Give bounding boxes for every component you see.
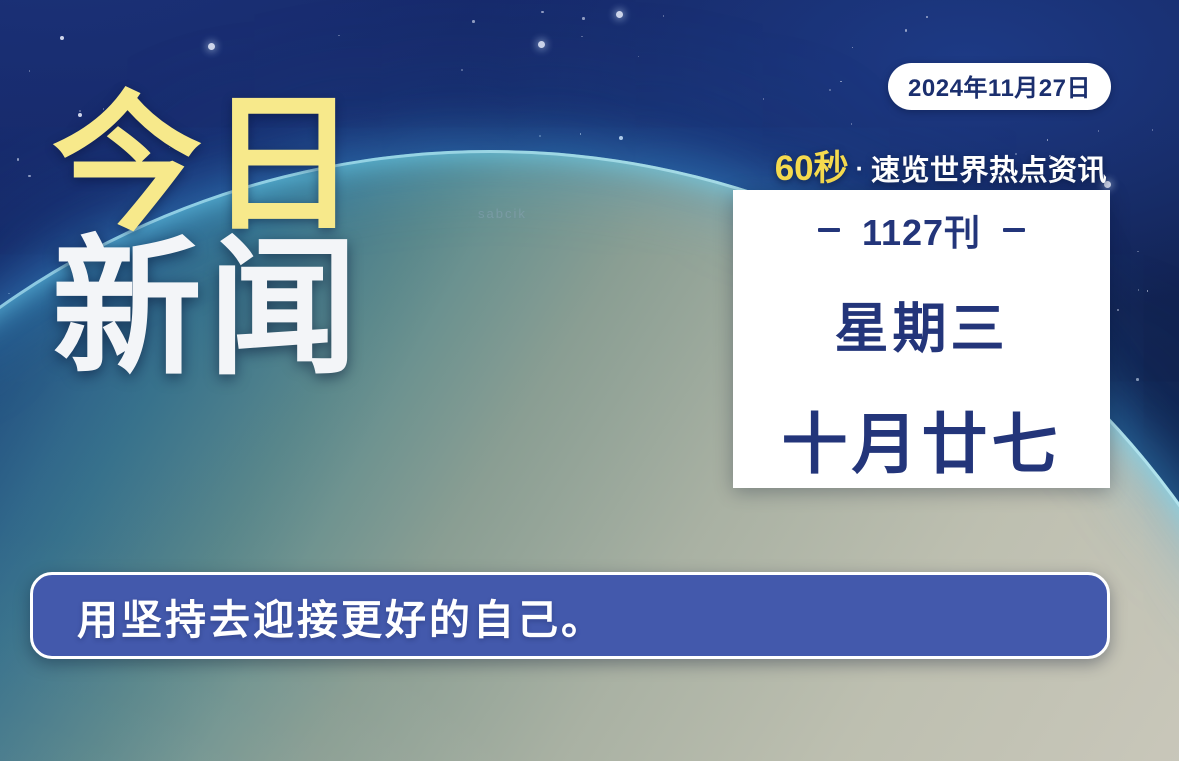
weekday-label: 星期三	[835, 284, 1009, 363]
watermark-text: sabcik	[478, 206, 527, 221]
title-line-today: 今日	[52, 96, 364, 234]
tagline: 60秒 · 速览世界热点资讯	[775, 140, 1107, 191]
issue-dash-left-icon	[818, 228, 840, 232]
poster-title: 今日 新闻	[52, 96, 364, 378]
title-line-news: 新闻	[52, 240, 364, 378]
issue-dash-right-icon	[1003, 228, 1025, 232]
tagline-seconds: 60秒	[775, 140, 849, 191]
issue-number: 1127刊	[862, 204, 981, 256]
tagline-description: 速览世界热点资讯	[871, 147, 1107, 189]
date-badge: 2024年11月27日	[888, 63, 1111, 110]
tagline-separator-dot: ·	[856, 155, 864, 184]
quote-text: 用坚持去迎接更好的自己。	[33, 586, 605, 646]
news-poster-canvas: sabcik 今日 新闻 2024年11月27日 60秒 · 速览世界热点资讯 …	[0, 0, 1179, 761]
quote-bar: 用坚持去迎接更好的自己。	[30, 572, 1110, 659]
info-card: 1127刊 星期三 十月廿七	[733, 190, 1110, 488]
lunar-date-label: 十月廿七	[782, 391, 1062, 487]
issue-row: 1127刊	[818, 204, 1025, 256]
